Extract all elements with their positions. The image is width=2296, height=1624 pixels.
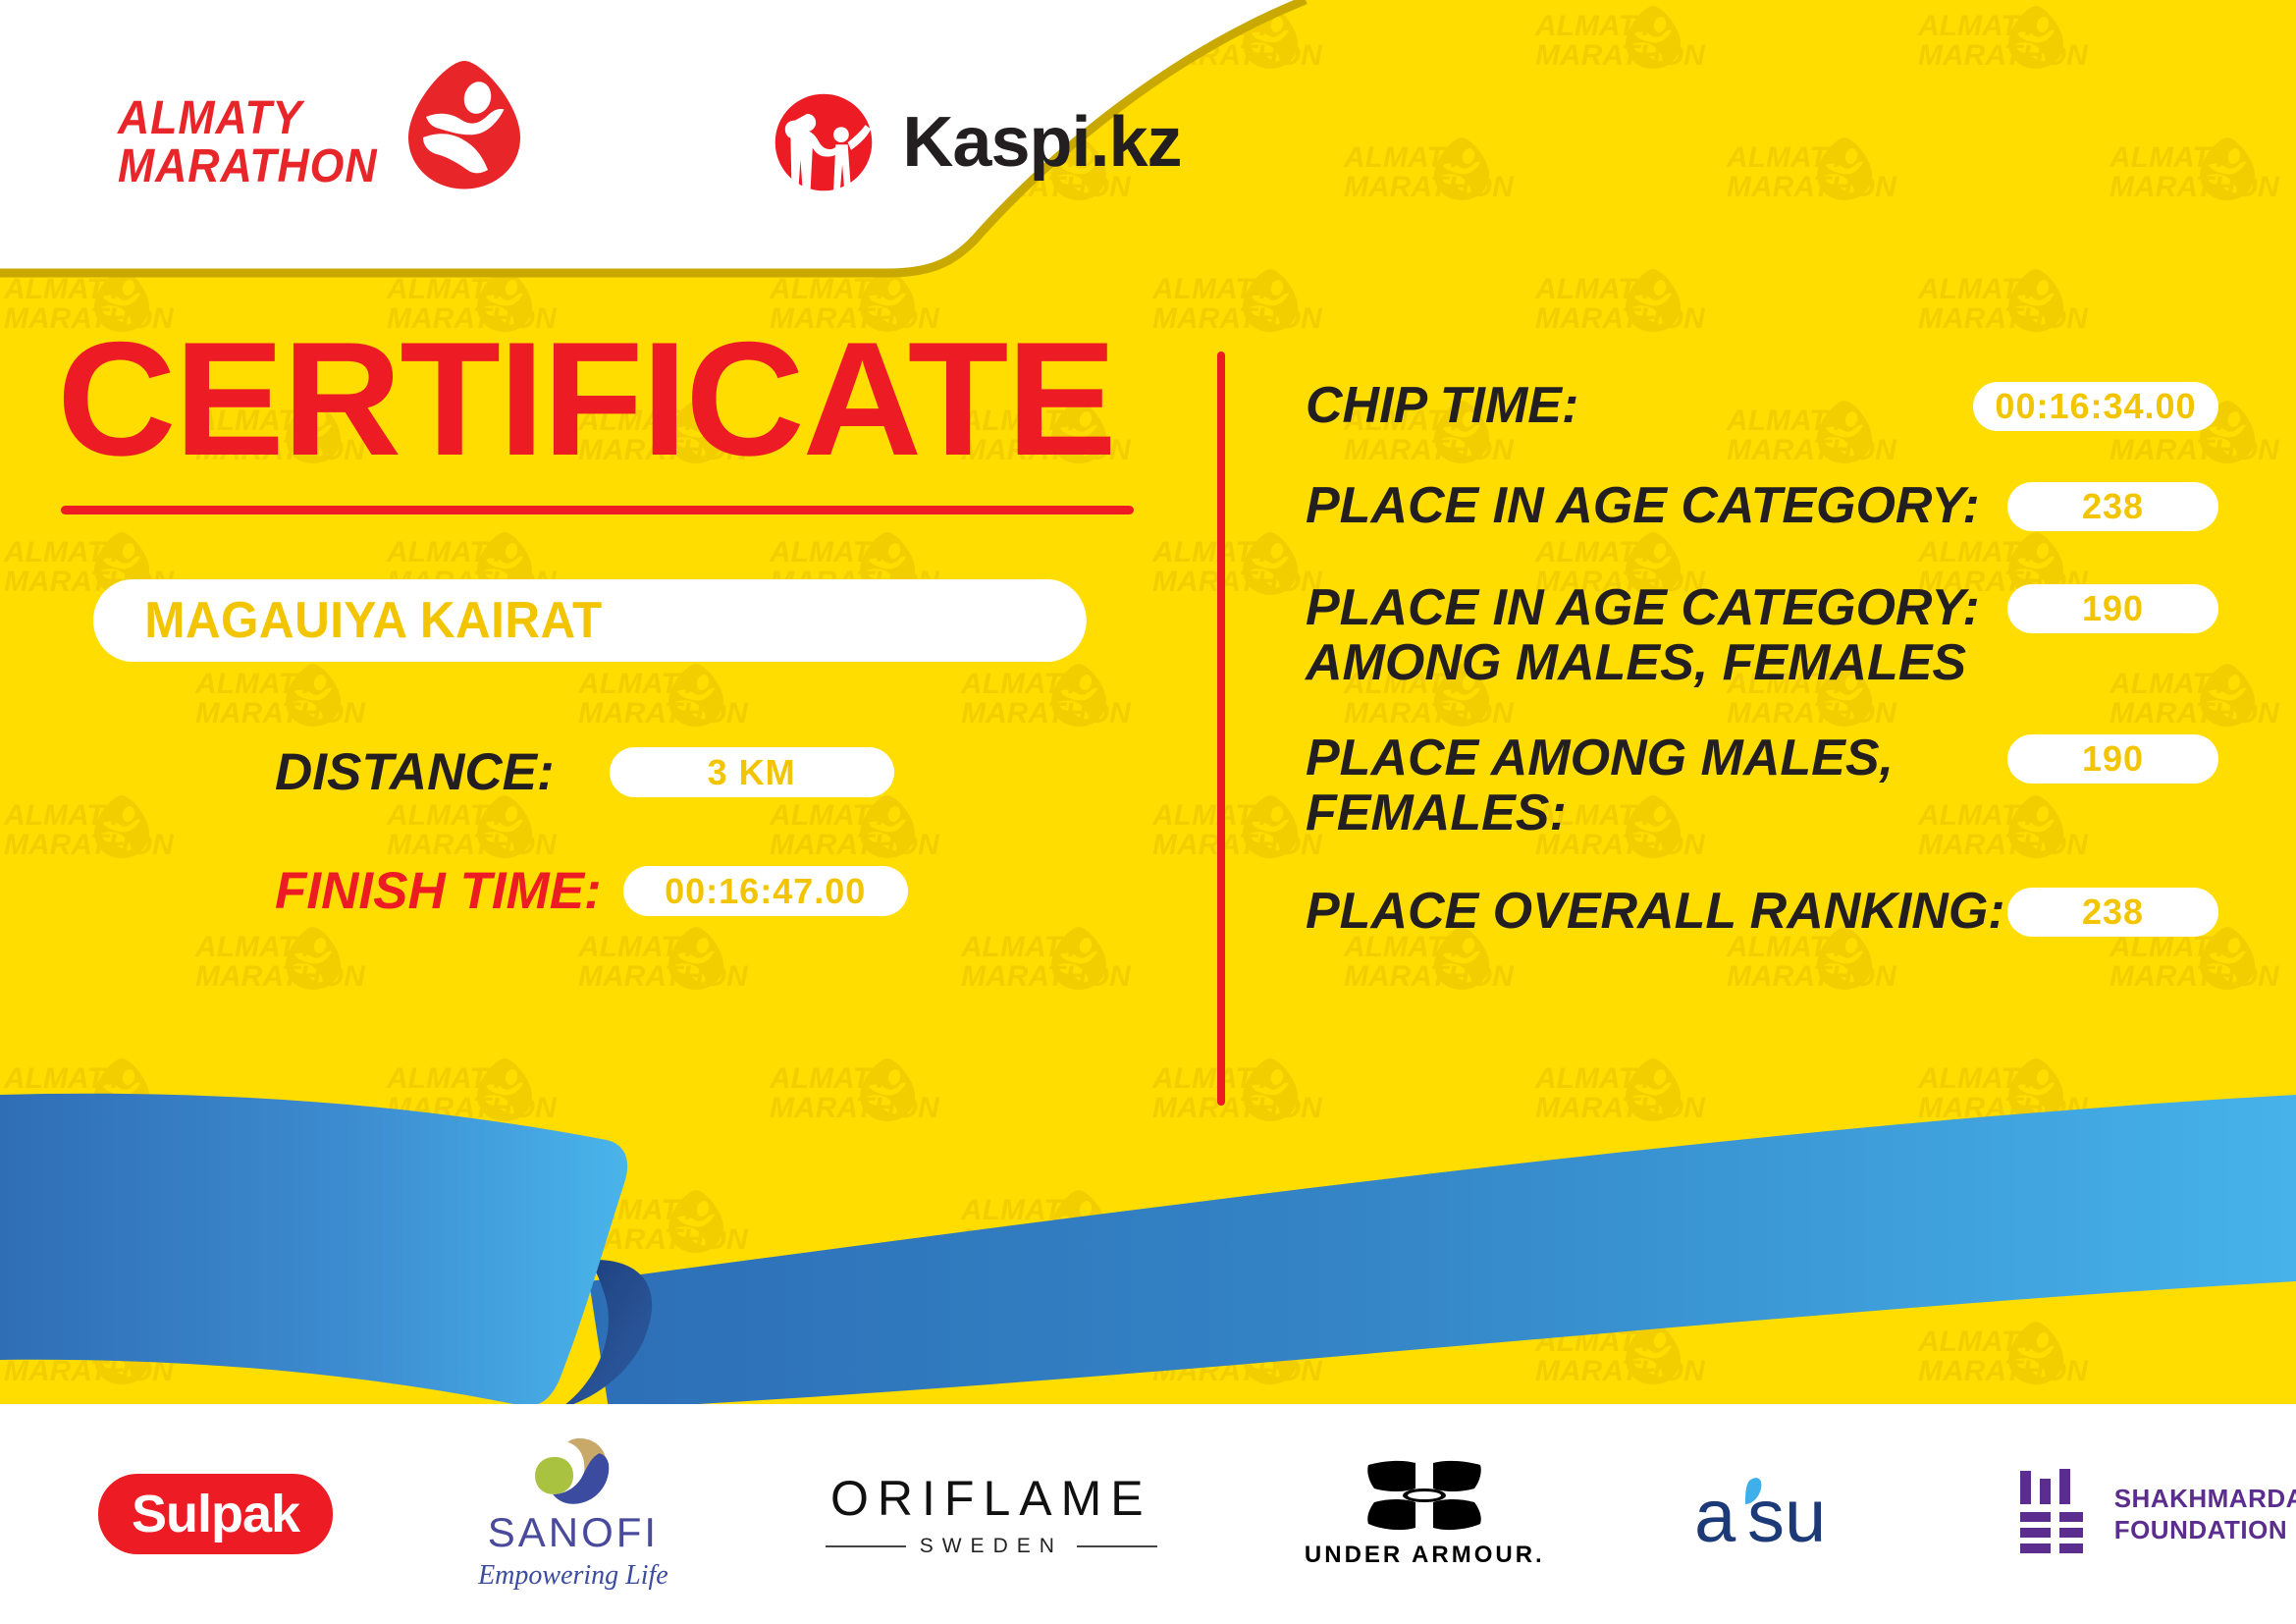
sponsor-strip: Sulpak SANOFI Empowering Life ORIFLAME S…: [0, 1404, 2296, 1624]
chip-time-value: 00:16:34.00: [1973, 382, 2218, 431]
oriflame-country: SWEDEN: [920, 1535, 1063, 1558]
title-underline: [61, 506, 1134, 514]
sponsor-sanofi: SANOFI Empowering Life: [478, 1436, 668, 1592]
yessenov-bars-icon: [2016, 1469, 2093, 1559]
sanofi-tagline: Empowering Life: [478, 1560, 668, 1592]
result-row-place-among-gender: PLACE AMONG MALES, FEMALES: 190: [1306, 731, 2218, 840]
finish-time-value: 00:16:47.00: [623, 866, 908, 916]
sponsor-sulpak: Sulpak: [98, 1474, 333, 1554]
column-divider: [1217, 352, 1225, 1106]
results-column: CHIP TIME: 00:16:34.00 PLACE IN AGE CATE…: [1306, 378, 2218, 972]
chip-time-label: CHIP TIME:: [1306, 378, 1578, 433]
place-overall-value: 238: [2007, 888, 2218, 937]
sponsor-oriflame: ORIFLAME SWEDEN: [826, 1470, 1157, 1558]
header-logos: ALMATY MARATHON Kaspi.kz: [0, 0, 1178, 285]
yessenov-wordmark: SHAKHMARDAN YESSENOV FOUNDATION: [2114, 1483, 2296, 1546]
sulpak-wordmark: Sulpak: [98, 1474, 333, 1554]
page-title: CERTIFICATE: [57, 324, 1180, 474]
distance-row: DISTANCE: 3 KM: [275, 742, 1158, 802]
place-overall-label: PLACE OVERALL RANKING:: [1306, 884, 2005, 939]
place-age-category-value: 238: [2007, 482, 2218, 531]
label-line-2: FEMALES:: [1306, 785, 1567, 841]
label-line-1: PLACE IN AGE CATEGORY:: [1306, 579, 1980, 636]
sponsor-yessenov-foundation: SHAKHMARDAN YESSENOV FOUNDATION: [2016, 1469, 2296, 1559]
rule-right: [1077, 1545, 1157, 1547]
almaty-marathon-logo: ALMATY MARATHON: [118, 85, 538, 199]
sponsor-asu: a su: [1692, 1467, 1879, 1561]
runner-drop-icon: [391, 52, 538, 199]
place-age-category-label: PLACE IN AGE CATEGORY:: [1306, 478, 1980, 533]
kaspi-people-circle-icon: [769, 87, 879, 197]
brand-line-1: ALMATY: [118, 94, 377, 142]
asu-logo-icon: a su: [1692, 1467, 1879, 1561]
kaspi-logo: Kaspi.kz: [769, 87, 1181, 197]
event-ribbon: APRIL21st RUN FOR SENSATIONS: [0, 1085, 2296, 1419]
athlete-name-field: MAGAUIYA KAIRAT: [93, 579, 1087, 662]
result-row-place-overall: PLACE OVERALL RANKING: 238: [1306, 884, 2218, 939]
almaty-marathon-wordmark: ALMATY MARATHON: [118, 94, 377, 191]
left-column: CERTIFICATE MAGAUIYA KAIRAT DISTANCE: 3 …: [0, 324, 1158, 921]
yessenov-line-2: FOUNDATION: [2114, 1515, 2287, 1544]
athlete-name-value: MAGAUIYA KAIRAT: [144, 591, 602, 650]
svg-text:a: a: [1694, 1475, 1736, 1558]
finish-time-row: FINISH TIME: 00:16:47.00: [275, 861, 1158, 921]
sanofi-wordmark: SANOFI: [488, 1509, 659, 1556]
under-armour-icon: [1361, 1459, 1488, 1536]
result-row-place-age-category: PLACE IN AGE CATEGORY: 238: [1306, 478, 2218, 533]
certificate-page: ALMATY MARATHON Kaspi.kz CERTIFICATE: [0, 0, 2296, 1624]
under-armour-wordmark: UNDER ARMOUR.: [1305, 1542, 1545, 1569]
brand-line-2: MARATHON: [118, 142, 377, 190]
place-age-category-gender-value: 190: [2007, 584, 2218, 633]
kaspi-wordmark: Kaspi.kz: [902, 102, 1181, 183]
result-row-place-age-category-gender: PLACE IN AGE CATEGORY: AMONG MALES, FEMA…: [1306, 580, 2218, 690]
oriflame-wordmark: ORIFLAME: [830, 1470, 1152, 1527]
label-line-2: AMONG MALES, FEMALES: [1306, 634, 1966, 691]
sponsor-under-armour: UNDER ARMOUR.: [1305, 1459, 1545, 1569]
place-among-gender-label: PLACE AMONG MALES, FEMALES:: [1306, 731, 1894, 840]
distance-value: 3 KM: [610, 747, 894, 797]
result-row-chip-time: CHIP TIME: 00:16:34.00: [1306, 378, 2218, 433]
place-age-category-gender-label: PLACE IN AGE CATEGORY: AMONG MALES, FEMA…: [1306, 580, 1980, 690]
oriflame-subline: SWEDEN: [826, 1535, 1157, 1558]
distance-label: DISTANCE:: [275, 742, 555, 802]
label-line-1: PLACE AMONG MALES,: [1306, 730, 1894, 786]
yessenov-line-1: SHAKHMARDAN YESSENOV: [2114, 1484, 2296, 1513]
place-among-gender-value: 190: [2007, 734, 2218, 784]
rule-left: [826, 1545, 906, 1547]
finish-time-label: FINISH TIME:: [275, 861, 602, 921]
sanofi-leaf-icon: [526, 1436, 620, 1509]
